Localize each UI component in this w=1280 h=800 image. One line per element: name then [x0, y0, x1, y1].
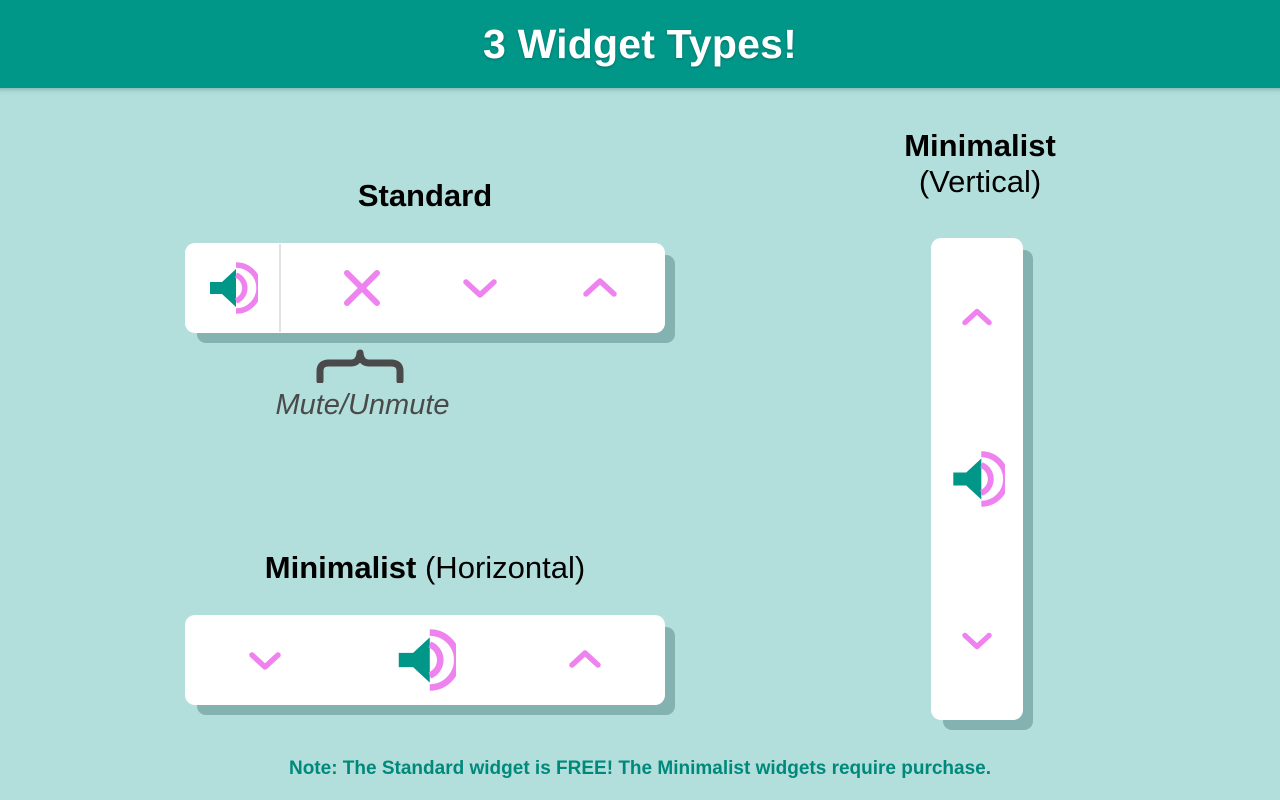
- minimalist-horizontal-volume-up-button[interactable]: [505, 615, 665, 705]
- standard-volume-down-button[interactable]: [420, 243, 540, 333]
- standard-divider: [279, 244, 281, 332]
- minimalist-horizontal-heading: Minimalist (Horizontal): [185, 550, 665, 586]
- chevron-down-icon: [243, 644, 287, 676]
- page-title: 3 Widget Types!: [483, 21, 797, 68]
- minimalist-vertical-heading-regular: (Vertical): [919, 164, 1041, 199]
- minimalist-vertical-heading-bold: Minimalist: [904, 128, 1056, 163]
- chevron-up-icon: [578, 272, 622, 304]
- standard-heading: Standard: [185, 178, 665, 214]
- speaker-icon: [949, 451, 1005, 507]
- speaker-icon: [394, 629, 456, 691]
- minimalist-vertical-widget-panel: [931, 238, 1023, 720]
- header-bar: 3 Widget Types!: [0, 0, 1280, 88]
- close-icon: [340, 266, 384, 310]
- chevron-down-icon: [956, 625, 998, 655]
- minimalist-vertical-mute-button[interactable]: [931, 399, 1023, 559]
- header-underline: [0, 88, 1280, 93]
- standard-close-button[interactable]: [302, 243, 422, 333]
- standard-mute-button[interactable]: [185, 243, 279, 333]
- minimalist-horizontal-heading-regular: (Horizontal): [416, 550, 585, 585]
- chevron-down-icon: [458, 272, 502, 304]
- minimalist-vertical-volume-down-button[interactable]: [931, 560, 1023, 720]
- chevron-up-icon: [956, 303, 998, 333]
- minimalist-horizontal-mute-button[interactable]: [345, 615, 505, 705]
- standard-volume-up-button[interactable]: [540, 243, 660, 333]
- minimalist-vertical-heading: Minimalist(Vertical): [860, 128, 1100, 201]
- footer-note: Note: The Standard widget is FREE! The M…: [0, 758, 1280, 780]
- mute-unmute-caption: Mute/Unmute: [185, 389, 540, 422]
- minimalist-horizontal-heading-bold: Minimalist: [265, 550, 417, 585]
- minimalist-horizontal-widget-panel: [185, 615, 665, 705]
- minimalist-horizontal-volume-down-button[interactable]: [185, 615, 345, 705]
- speaker-icon: [206, 262, 258, 314]
- standard-widget-panel: [185, 243, 665, 333]
- minimalist-vertical-volume-up-button[interactable]: [931, 238, 1023, 398]
- chevron-up-icon: [563, 644, 607, 676]
- curly-brace-up-icon: [316, 349, 404, 383]
